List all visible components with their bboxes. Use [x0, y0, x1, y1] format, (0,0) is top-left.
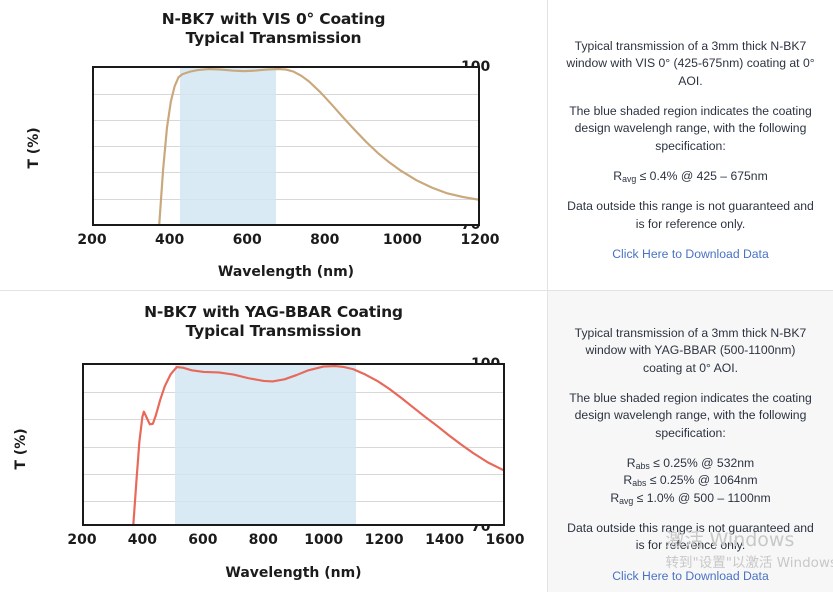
panel-intro: Typical transmission of a 3mm thick N-BK… — [566, 38, 815, 90]
spec-line: Rabs ≤ 0.25% @ 1064nm — [566, 472, 815, 489]
transmission-curve-vis — [94, 68, 478, 224]
download-data-link[interactable]: Click Here to Download Data — [612, 246, 768, 263]
spec-symbol: R — [627, 456, 636, 470]
description-panel-vis: Typical transmission of a 3mm thick N-BK… — [547, 0, 833, 290]
panel-shaded-note: The blue shaded region indicates the coa… — [566, 103, 815, 155]
chart-title-line1: N-BK7 with VIS 0° Coating — [162, 10, 385, 28]
panel-shaded-note: The blue shaded region indicates the coa… — [566, 390, 815, 442]
y-axis-label-yag: T (%) — [13, 414, 29, 484]
chart-cell-yag: N-BK7 with YAG-BBAR Coating Typical Tran… — [0, 290, 547, 592]
spec-subscript: abs — [632, 478, 646, 488]
x-tick: 800 — [310, 232, 339, 248]
panel-disclaimer: Data outside this range is not guarantee… — [566, 520, 815, 555]
x-tick: 1000 — [383, 232, 422, 248]
spec-value: ≤ 0.25% @ 532nm — [650, 456, 754, 470]
spec-symbol: R — [623, 473, 632, 487]
x-axis-label-vis: Wavelength (nm) — [92, 264, 480, 280]
chart-title-line2: Typical Transmission — [0, 29, 547, 48]
panel-intro: Typical transmission of a 3mm thick N-BK… — [566, 325, 815, 377]
x-tick: 200 — [67, 532, 96, 548]
x-tick: 200 — [77, 232, 106, 248]
spec-line: Ravg ≤ 1.0% @ 500 – 1100nm — [566, 490, 815, 507]
chart-cell-vis: N-BK7 with VIS 0° Coating Typical Transm… — [0, 0, 547, 290]
x-tick: 1000 — [304, 532, 343, 548]
x-tick: 400 — [128, 532, 157, 548]
chart-title-vis: N-BK7 with VIS 0° Coating Typical Transm… — [0, 0, 547, 48]
page-root: N-BK7 with VIS 0° Coating Typical Transm… — [0, 0, 833, 592]
chart-row-1: N-BK7 with VIS 0° Coating Typical Transm… — [0, 0, 833, 290]
x-tick: 1200 — [461, 232, 500, 248]
transmission-curve-yag — [84, 365, 503, 524]
x-tick: 400 — [155, 232, 184, 248]
chart-title-yag: N-BK7 with YAG-BBAR Coating Typical Tran… — [0, 291, 547, 341]
spec-line: Rabs ≤ 0.25% @ 532nm — [566, 455, 815, 472]
x-tick: 1200 — [365, 532, 404, 548]
x-tick: 800 — [249, 532, 278, 548]
download-data-link[interactable]: Click Here to Download Data — [612, 568, 768, 585]
description-panel-yag: Typical transmission of a 3mm thick N-BK… — [547, 290, 833, 592]
spec-subscript: avg — [619, 496, 633, 506]
spec-list-vis: Ravg ≤ 0.4% @ 425 – 675nm — [566, 168, 815, 185]
spec-value: ≤ 0.25% @ 1064nm — [646, 473, 757, 487]
chart-title-line2: Typical Transmission — [0, 322, 547, 341]
spec-value: ≤ 1.0% @ 500 – 1100nm — [633, 491, 770, 505]
chart-title-line1: N-BK7 with YAG-BBAR Coating — [144, 303, 403, 321]
spec-list-yag: Rabs ≤ 0.25% @ 532nm Rabs ≤ 0.25% @ 1064… — [566, 455, 815, 507]
chart-row-2: N-BK7 with YAG-BBAR Coating Typical Tran… — [0, 290, 833, 592]
x-tick: 1600 — [486, 532, 525, 548]
x-axis-label-yag: Wavelength (nm) — [82, 565, 505, 581]
y-axis-label-vis: T (%) — [26, 113, 42, 183]
x-tick: 600 — [188, 532, 217, 548]
spec-subscript: avg — [622, 174, 636, 184]
spec-line: Ravg ≤ 0.4% @ 425 – 675nm — [566, 168, 815, 185]
x-tick: 1400 — [425, 532, 464, 548]
spec-symbol: R — [613, 169, 622, 183]
x-tick: 600 — [233, 232, 262, 248]
plot-area-vis — [92, 66, 480, 226]
spec-value: ≤ 0.4% @ 425 – 675nm — [636, 169, 768, 183]
spec-subscript: abs — [636, 461, 650, 471]
spec-symbol: R — [610, 491, 619, 505]
panel-disclaimer: Data outside this range is not guarantee… — [566, 198, 815, 233]
plot-area-yag — [82, 363, 505, 526]
